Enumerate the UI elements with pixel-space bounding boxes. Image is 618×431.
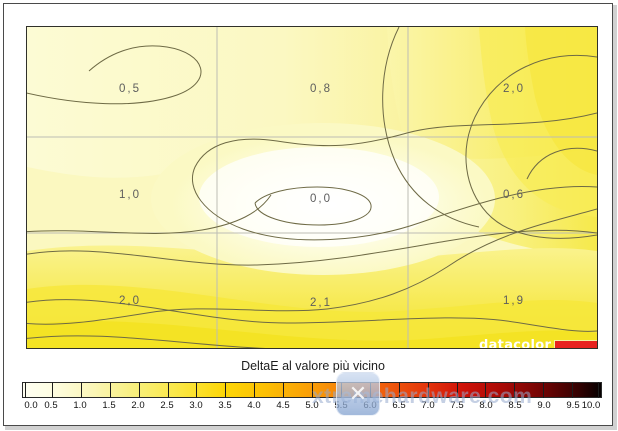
- colorbar-tick: [312, 382, 313, 398]
- contour-label: 2,0: [119, 295, 141, 307]
- colorbar-tick-label: 5.0: [305, 400, 318, 411]
- colorbar-tick-label: 1.5: [102, 400, 115, 411]
- colorbar-title: DeltaE al valore più vicino: [4, 359, 618, 373]
- colorbar-tick-label: 2.5: [160, 400, 173, 411]
- colorbar-tick: [52, 382, 53, 398]
- colorbar-tick-label: 8.0: [479, 400, 492, 411]
- colorbar-tick: [283, 382, 284, 398]
- colorbar-tick-label: 1.0: [73, 400, 86, 411]
- colorbar-tick-label: 8.5: [508, 400, 521, 411]
- screenshot-root: 0,5 0,8 2,0 1,0 0,0 0,6 2,0 2,1 1,9 data…: [0, 0, 618, 431]
- colorbar-tick-label: 6.5: [392, 400, 405, 411]
- colorbar-tick: [254, 382, 255, 398]
- contour-label: 1,9: [503, 295, 525, 307]
- colorbar-tick-label: 7.5: [450, 400, 463, 411]
- colorbar-tick: [225, 382, 226, 398]
- contour-label: 2,1: [310, 297, 332, 309]
- colorbar-tick: [196, 382, 197, 398]
- colorbar-tick-label: 9.0: [537, 400, 550, 411]
- colorbar-tick-label: 3.0: [189, 400, 202, 411]
- colorbar-tick-label: 2.0: [131, 400, 144, 411]
- colorbar-tick-label: 7.0: [421, 400, 434, 411]
- contour-label: 0,5: [119, 83, 141, 95]
- contour-label-boxed: 0,0: [310, 193, 332, 205]
- colorbar-tick: [81, 382, 82, 398]
- contour-label: 0,8: [310, 83, 332, 95]
- colorbar-tick-label: 5.5: [334, 400, 347, 411]
- colorbar-tick: [139, 382, 140, 398]
- contour-label: 2,0: [503, 83, 525, 95]
- datacolor-logo: datacolor: [479, 338, 598, 349]
- colorbar-tick: [168, 382, 169, 398]
- colorbar-tick-label: 0.0: [24, 400, 37, 411]
- colorbar-tick: [543, 382, 544, 398]
- contour-plot: 0,5 0,8 2,0 1,0 0,0 0,6 2,0 2,1 1,9 data…: [26, 26, 598, 349]
- colorbar-tick: [428, 382, 429, 398]
- colorbar-tick-label: 4.5: [276, 400, 289, 411]
- colorbar-tick-label: 3.5: [218, 400, 231, 411]
- datacolor-wordmark: datacolor: [479, 338, 551, 349]
- colorbar-tick: [514, 382, 515, 398]
- colorbar-tick: [485, 382, 486, 398]
- contour-label: 0,6: [503, 189, 525, 201]
- colorbar-tick: [370, 382, 371, 398]
- colorbar-tick-label: 4.0: [247, 400, 260, 411]
- colorbar-tick-labels: 0.00.51.01.52.02.53.03.54.04.55.05.56.06…: [4, 400, 618, 416]
- datacolor-accent-bar: [554, 340, 598, 350]
- colorbar-tick: [341, 382, 342, 398]
- colorbar-tick: [25, 382, 26, 398]
- colorbar-tick-label: 10.0: [582, 400, 601, 411]
- colorbar-tick-label: 9.5: [566, 400, 579, 411]
- colorbar-tick: [110, 382, 111, 398]
- colorbar-ticks: [22, 382, 602, 398]
- image-frame: 0,5 0,8 2,0 1,0 0,0 0,6 2,0 2,1 1,9 data…: [3, 3, 613, 426]
- colorbar-tick: [399, 382, 400, 398]
- colorbar-tick: [572, 382, 573, 398]
- contour-label: 1,0: [119, 189, 141, 201]
- colorbar-tick: [598, 382, 599, 398]
- colorbar-tick-label: 0.5: [44, 400, 57, 411]
- colorbar-tick-label: 6.0: [363, 400, 376, 411]
- colorbar-tick: [457, 382, 458, 398]
